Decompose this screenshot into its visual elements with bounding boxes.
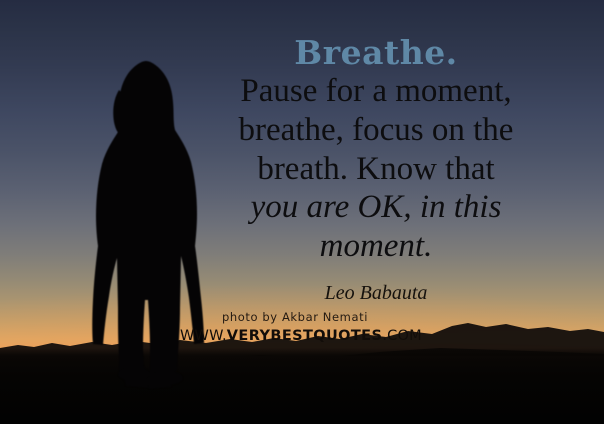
credits-block: photo by Akbar Nemati WWW.VERYBESTQUOTES…	[180, 310, 410, 344]
quote-line-3: breath. Know that	[196, 150, 556, 189]
url-suffix: .COM	[382, 328, 421, 344]
quote-line-2: breathe, focus on the	[196, 111, 556, 150]
quote-image-canvas: Breathe. Pause for a moment, breathe, fo…	[0, 0, 604, 424]
quote-line-5: moment.	[196, 227, 556, 266]
quote-author: Leo Babauta	[196, 282, 556, 305]
quote-line-1: Pause for a moment,	[196, 72, 556, 111]
quote-line-4: you are OK, in this	[196, 188, 556, 227]
quote-text-block: Breathe. Pause for a moment, breathe, fo…	[196, 36, 556, 305]
url-brand: VERYBESTQUOTES	[227, 328, 383, 344]
photo-credit: photo by Akbar Nemati	[180, 310, 410, 324]
website-url: WWW.VERYBESTQUOTES.COM	[180, 328, 410, 344]
quote-headline: Breathe.	[196, 36, 556, 70]
url-prefix: WWW.	[180, 328, 227, 344]
